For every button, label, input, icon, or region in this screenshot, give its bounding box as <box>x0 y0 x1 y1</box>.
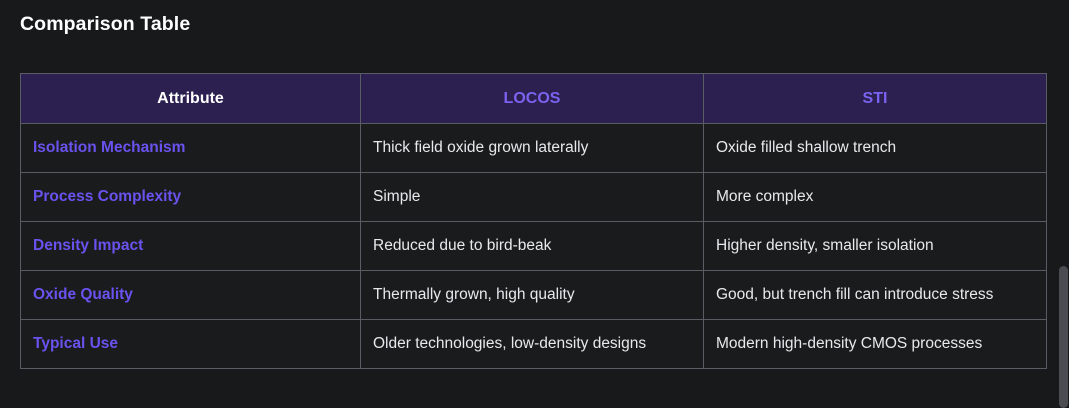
table-row: Process Complexity Simple More complex <box>21 173 1047 222</box>
table-header-row: Attribute LOCOS STI <box>21 74 1047 124</box>
comparison-table: Attribute LOCOS STI Isolation Mechanism … <box>20 73 1047 369</box>
cell-sti: More complex <box>704 173 1047 222</box>
page-title: Comparison Table <box>20 12 190 37</box>
page-scrollbar[interactable] <box>1058 0 1069 408</box>
page-scrollbar-thumb[interactable] <box>1059 266 1068 408</box>
page-root: Comparison Table Attribute LOCOS STI Iso… <box>0 0 1069 408</box>
cell-attribute: Oxide Quality <box>21 271 361 320</box>
cell-locos: Thermally grown, high quality <box>361 271 704 320</box>
comparison-table-container: Attribute LOCOS STI Isolation Mechanism … <box>20 73 1046 369</box>
table-row: Oxide Quality Thermally grown, high qual… <box>21 271 1047 320</box>
table-row: Typical Use Older technologies, low-dens… <box>21 320 1047 369</box>
cell-attribute: Isolation Mechanism <box>21 124 361 173</box>
cell-locos: Simple <box>361 173 704 222</box>
cell-sti: Good, but trench fill can introduce stre… <box>704 271 1047 320</box>
cell-attribute: Typical Use <box>21 320 361 369</box>
column-header-attribute: Attribute <box>21 74 361 124</box>
cell-attribute: Density Impact <box>21 222 361 271</box>
column-header-sti: STI <box>704 74 1047 124</box>
table-row: Density Impact Reduced due to bird-beak … <box>21 222 1047 271</box>
cell-attribute: Process Complexity <box>21 173 361 222</box>
cell-sti: Oxide filled shallow trench <box>704 124 1047 173</box>
cell-sti: Modern high-density CMOS processes <box>704 320 1047 369</box>
cell-locos: Reduced due to bird-beak <box>361 222 704 271</box>
cell-sti: Higher density, smaller isolation <box>704 222 1047 271</box>
cell-locos: Older technologies, low-density designs <box>361 320 704 369</box>
table-header: Attribute LOCOS STI <box>21 74 1047 124</box>
table-body: Isolation Mechanism Thick field oxide gr… <box>21 124 1047 369</box>
table-row: Isolation Mechanism Thick field oxide gr… <box>21 124 1047 173</box>
column-header-locos: LOCOS <box>361 74 704 124</box>
cell-locos: Thick field oxide grown laterally <box>361 124 704 173</box>
